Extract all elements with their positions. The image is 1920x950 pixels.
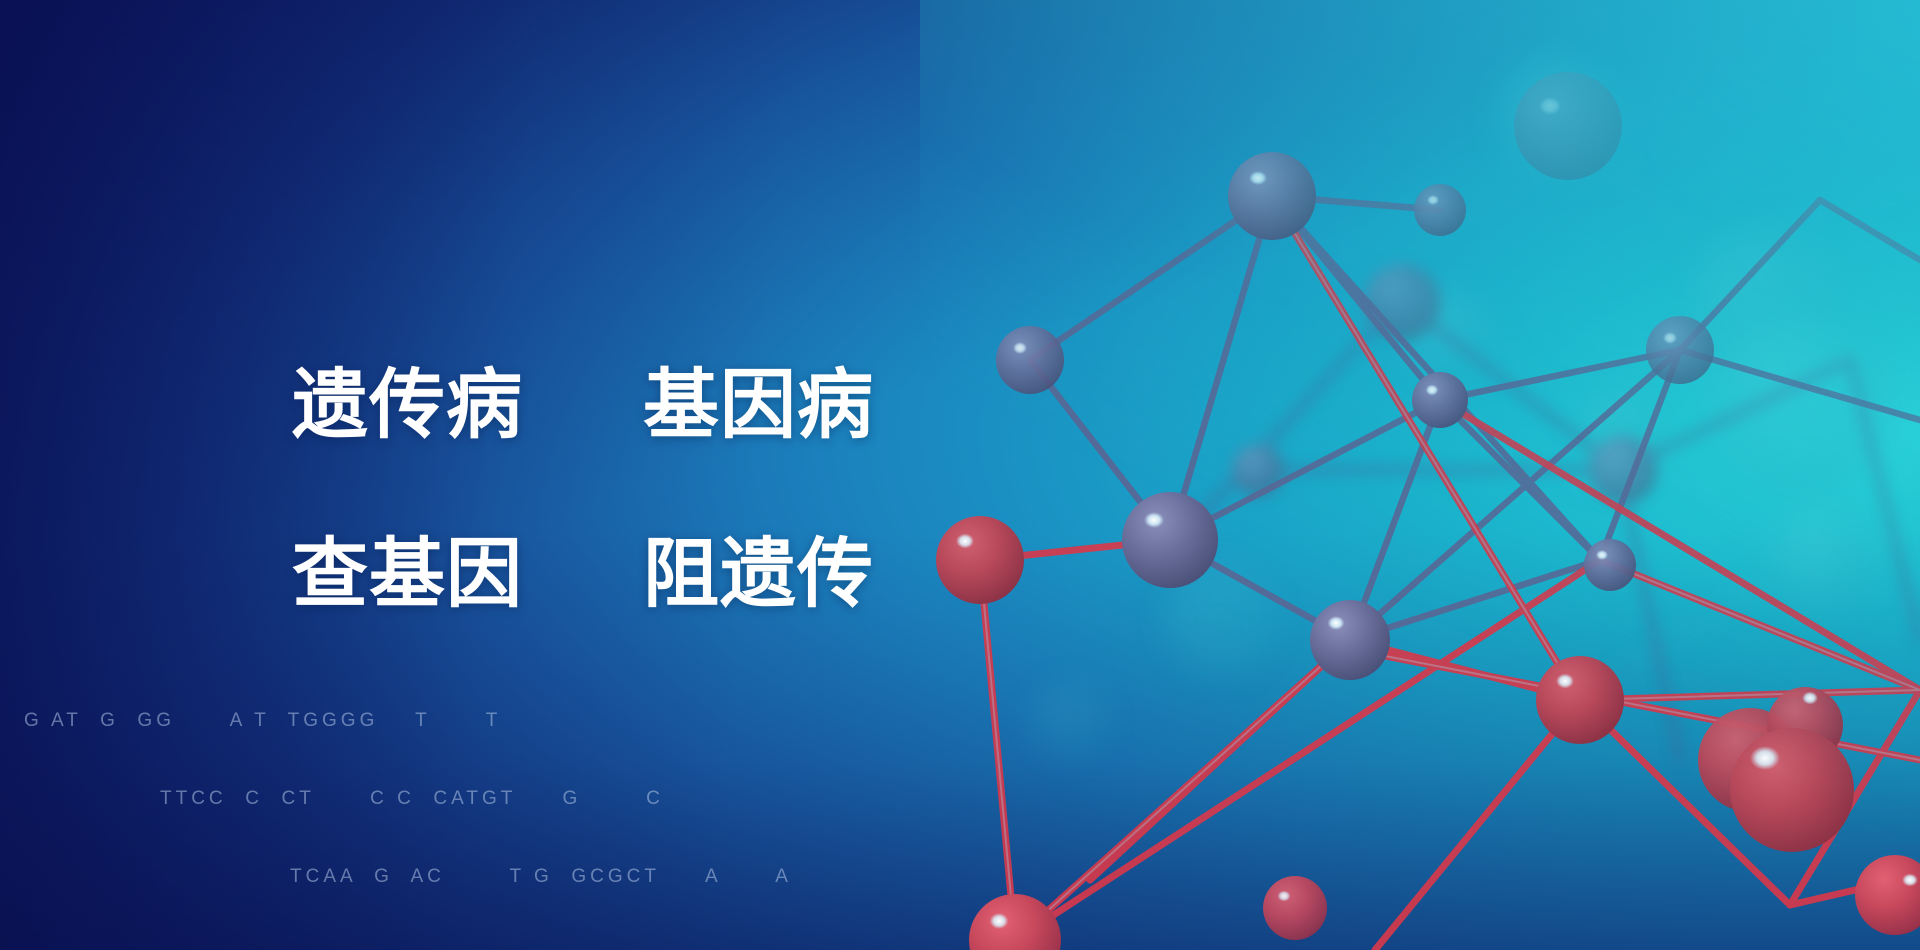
dna-sequence-line-3: TCAA G AC T G GCGCT A A — [0, 860, 1100, 894]
banner-canvas: 遗传病 基因病 查基因 阻遗传 G AT G GG A T TGGGG T T … — [0, 0, 1920, 950]
dna-sequence-line-1: G AT G GG A T TGGGG T T — [0, 704, 1100, 738]
dna-sequence-line-2: TTCC C CT C C CATGT G C — [0, 782, 1100, 816]
headline-line2-left: 查基因 — [292, 537, 523, 613]
headline-line-2: 查基因 阻遗传 — [292, 537, 1032, 613]
headline-block: 遗传病 基因病 查基因 阻遗传 — [292, 368, 1032, 613]
headline-line1-left: 遗传病 — [292, 368, 523, 444]
dna-sequence-block: G AT G GG A T TGGGG T T TTCC C CT C C CA… — [0, 660, 1100, 950]
headline-line1-right: 基因病 — [643, 368, 874, 444]
headline-line-1: 遗传病 基因病 — [292, 368, 1032, 444]
headline-line2-right: 阻遗传 — [643, 537, 874, 613]
